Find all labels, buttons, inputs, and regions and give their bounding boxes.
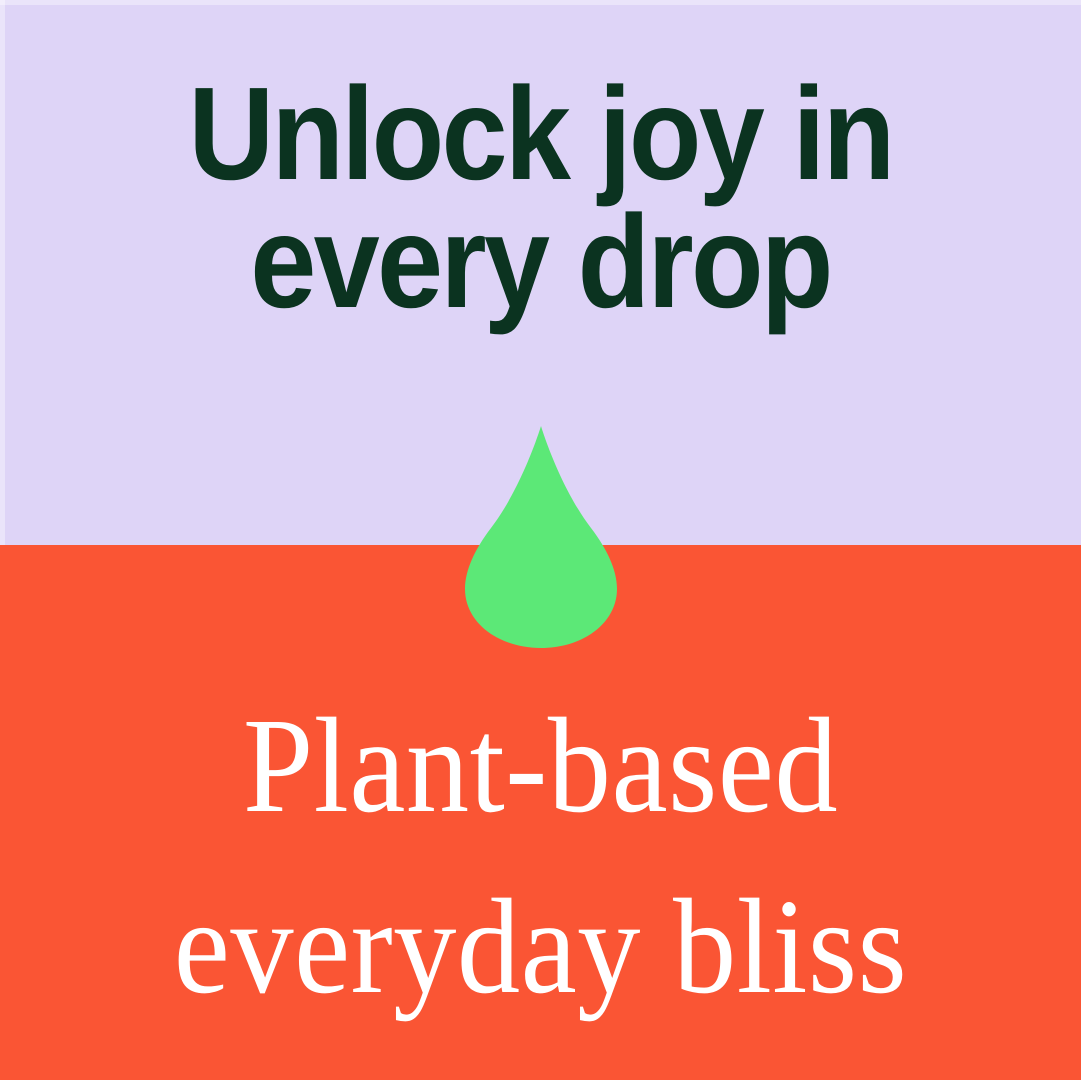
droplet-shape: [465, 426, 617, 648]
water-droplet-icon: [463, 424, 619, 650]
headline-line-2: every drop: [54, 198, 1027, 326]
headline-line-1: Unlock joy in: [54, 70, 1027, 198]
subhead: Plant-based everyday bliss: [38, 676, 1043, 1038]
subhead-line-1: Plant-based: [38, 676, 1043, 857]
subhead-line-2: everyday bliss: [38, 857, 1043, 1038]
poster-canvas: Unlock joy in every drop Plant-based eve…: [0, 0, 1081, 1080]
headline: Unlock joy in every drop: [54, 70, 1027, 326]
